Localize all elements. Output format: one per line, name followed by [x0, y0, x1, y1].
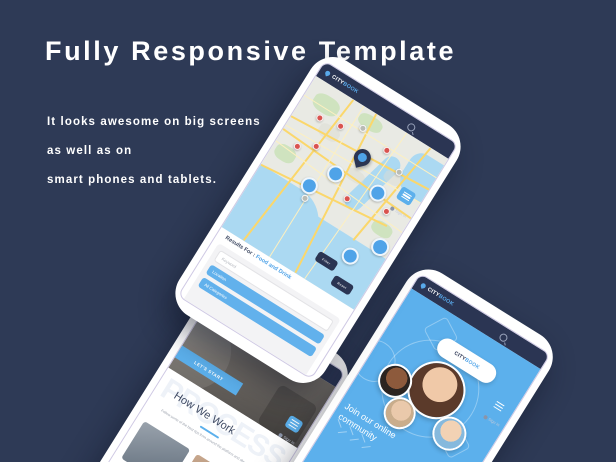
map-pin-icon: [420, 283, 426, 289]
page-subtitle: It looks awesome on big screens as well …: [47, 108, 261, 195]
subtitle-line-2: as well as on: [47, 137, 261, 166]
zig-seg: [362, 446, 371, 448]
poster-stage: Fully Responsive Template It looks aweso…: [0, 0, 616, 462]
logo-text-secondary: BOOK: [342, 81, 360, 95]
subtitle-line-1: It looks awesome on big screens: [47, 108, 261, 137]
search-icon[interactable]: [406, 121, 417, 132]
badge-text-secondary: BOOK: [463, 357, 480, 371]
zig-seg: [350, 439, 359, 441]
map-pin-icon: [325, 70, 331, 76]
page-title: Fully Responsive Template: [45, 36, 456, 67]
logo-text-secondary: BOOK: [437, 293, 455, 307]
search-icon[interactable]: [498, 332, 509, 343]
subtitle-line-3: smart phones and tablets.: [47, 166, 261, 195]
map-marker[interactable]: [324, 162, 347, 185]
zig-seg: [338, 431, 347, 433]
thumbnail-image-1: [121, 421, 190, 462]
map-poi[interactable]: [315, 113, 325, 123]
